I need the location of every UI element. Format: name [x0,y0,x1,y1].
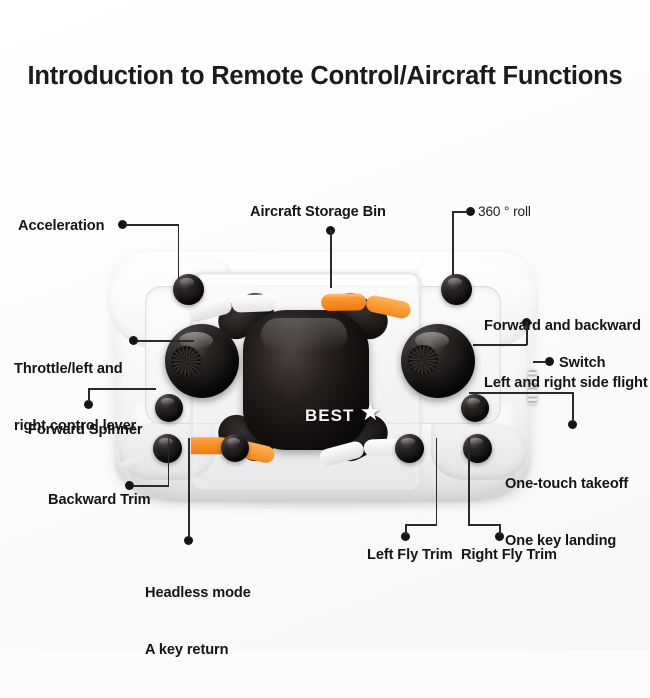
left-control-stick[interactable] [165,324,239,398]
callout-right-fly-trim-label: Right Fly Trim [461,546,557,565]
callout-left-fly-trim-label: Left Fly Trim [367,546,452,565]
callout-switch-line-h [533,361,547,363]
callout-left-fly-trim-line-h [405,524,437,526]
roll-360-button[interactable] [441,274,472,305]
callout-forward-spinner-line-v [88,388,90,402]
callout-right-fly-trim-line-v [499,524,501,535]
callout-headless-label: Headless mode A key return [145,546,251,698]
callout-forward-backward-line1: Forward and backward [484,317,648,336]
callout-right-fly-trim-line-v2 [468,438,470,525]
callout-forward-spinner-label: Forward Spinner [28,421,142,440]
callout-right-fly-trim-line-h [468,524,501,526]
callout-acceleration-line-h [126,224,179,226]
callout-backward-trim-line-h [133,485,169,487]
brand-star-icon: ★ [361,402,383,424]
callout-roll-360-line-v [452,211,454,275]
callout-switch-label: Switch [559,354,605,373]
callout-throttle-line-h [137,340,194,342]
callout-roll-360-label: 360 ° roll [478,203,531,221]
callout-roll-360-line-h [452,211,468,213]
callout-acceleration-label: Acceleration [18,217,104,236]
callout-one-touch-line1: One-touch takeoff [505,475,628,494]
callout-acceleration-line-v [178,224,180,279]
callout-throttle-label: Throttle/left and right control lever [14,322,136,474]
callout-headless-line2: A key return [145,641,251,660]
callout-throttle-line1: Throttle/left and [14,360,136,379]
remote-controller-illustration: BEST ★ [113,252,533,510]
callout-storage-bin-label: Aircraft Storage Bin [250,203,386,222]
headless-mode-button[interactable] [221,434,249,462]
right-stick-nub [408,345,438,375]
callout-one-touch-label: One-touch takeoff One key landing [505,437,628,589]
callout-forward-spinner-line-h [88,388,156,390]
callout-one-touch-line-h [469,392,574,394]
callout-headless-line1: Headless mode [145,584,251,603]
callout-backward-trim-label: Backward Trim [48,491,151,510]
brand-logo: BEST [305,406,415,432]
callout-left-fly-trim-line-v [405,524,407,535]
left-fly-trim-button[interactable] [395,434,424,463]
page-title: Introduction to Remote Control/Aircraft … [0,62,650,91]
left-stick-nub [171,346,201,376]
callout-forward-backward-line-v [526,322,528,345]
forward-spinner-button[interactable] [155,394,183,422]
callout-forward-backward-line-h [473,344,527,346]
diagram-canvas: Introduction to Remote Control/Aircraft … [0,0,650,650]
callout-one-touch-line-v [572,392,574,422]
right-control-stick[interactable] [401,324,475,398]
callout-headless-line-v [188,438,190,538]
callout-backward-trim-line-v [168,438,170,486]
callout-storage-bin-line-v [330,230,332,288]
callout-forward-backward-line2: Left and right side flight [484,374,648,393]
callout-left-fly-trim-line-v2 [436,438,438,525]
drone-body: BEST ★ [243,310,369,450]
